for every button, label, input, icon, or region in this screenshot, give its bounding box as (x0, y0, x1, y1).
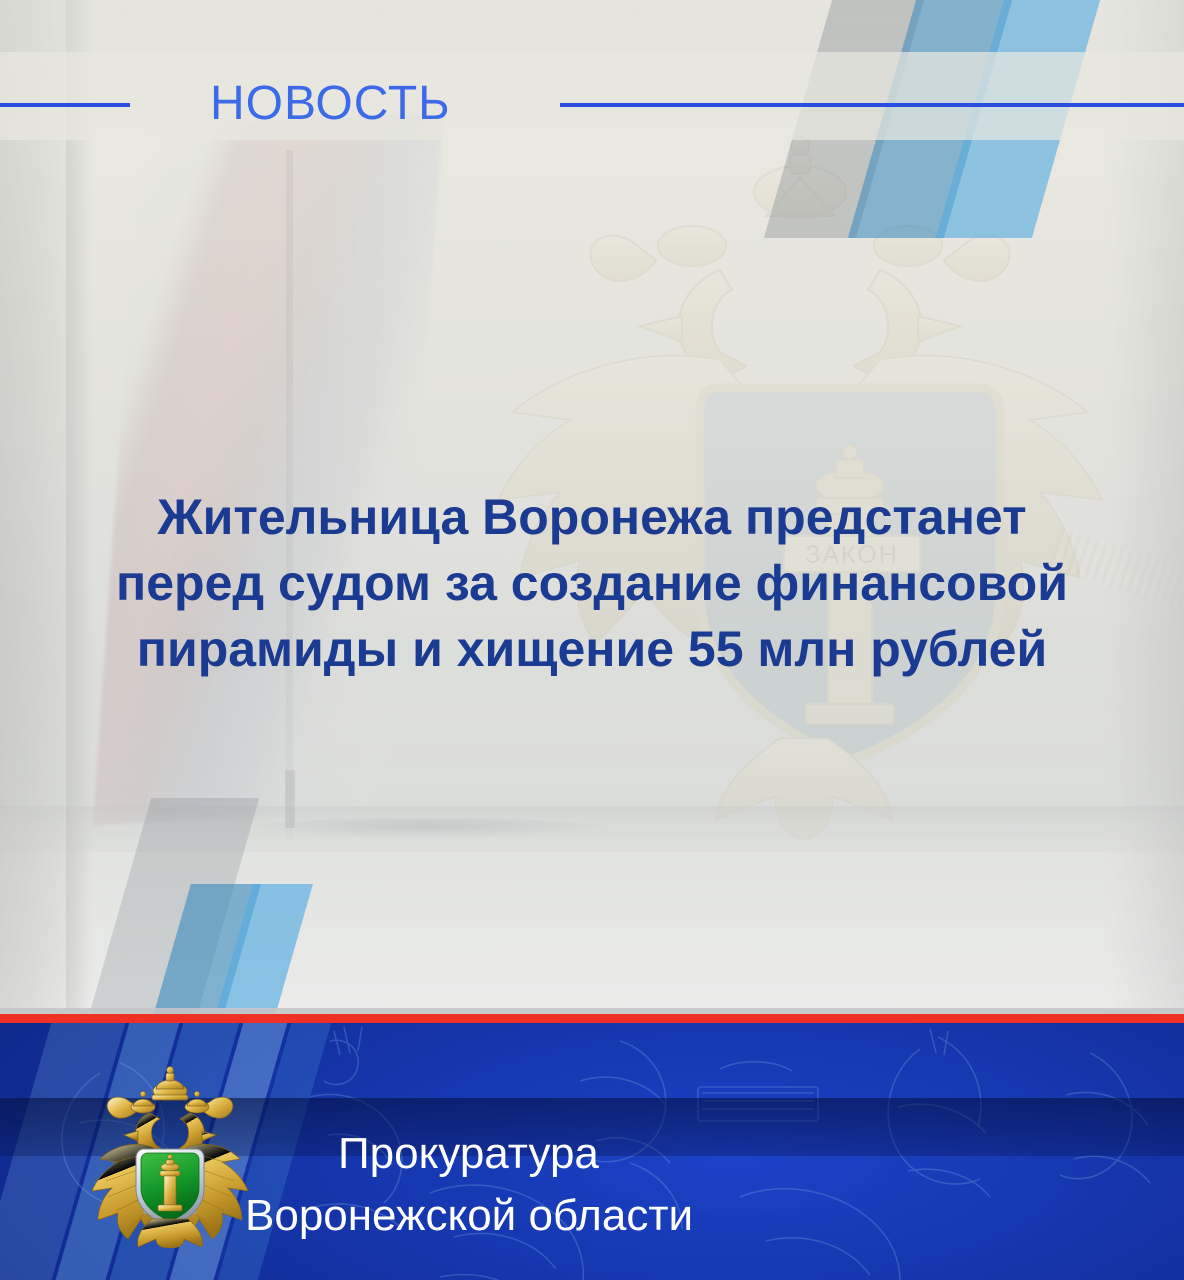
footer-title-line-1: Прокуратура (240, 1123, 940, 1185)
footer-title-line-2: Воронежской области (240, 1185, 940, 1247)
header-rule-right (560, 103, 1184, 107)
footer-red-rule (0, 1014, 1184, 1023)
headline-line-1: Жительница Воронежа предстанет (52, 484, 1132, 550)
headline: Жительница Воронежа предстанет перед суд… (52, 484, 1132, 682)
footer-title: Прокуратура Воронежской области (240, 1123, 940, 1247)
news-label: НОВОСТЬ (210, 78, 490, 130)
header-band (0, 52, 1184, 140)
news-poster: ЗАКОН НОВОСТЬ Жительница Воронежа предст… (0, 0, 1184, 1280)
footer-bar: Прокуратура Воронежской области (0, 1023, 1184, 1280)
headline-line-3: пирамиды и хищение 55 млн рублей (52, 616, 1132, 682)
prosecutors-office-emblem-icon (86, 1063, 254, 1248)
headline-line-2: перед судом за создание финансовой (52, 550, 1132, 616)
header-rule-left (0, 103, 130, 107)
